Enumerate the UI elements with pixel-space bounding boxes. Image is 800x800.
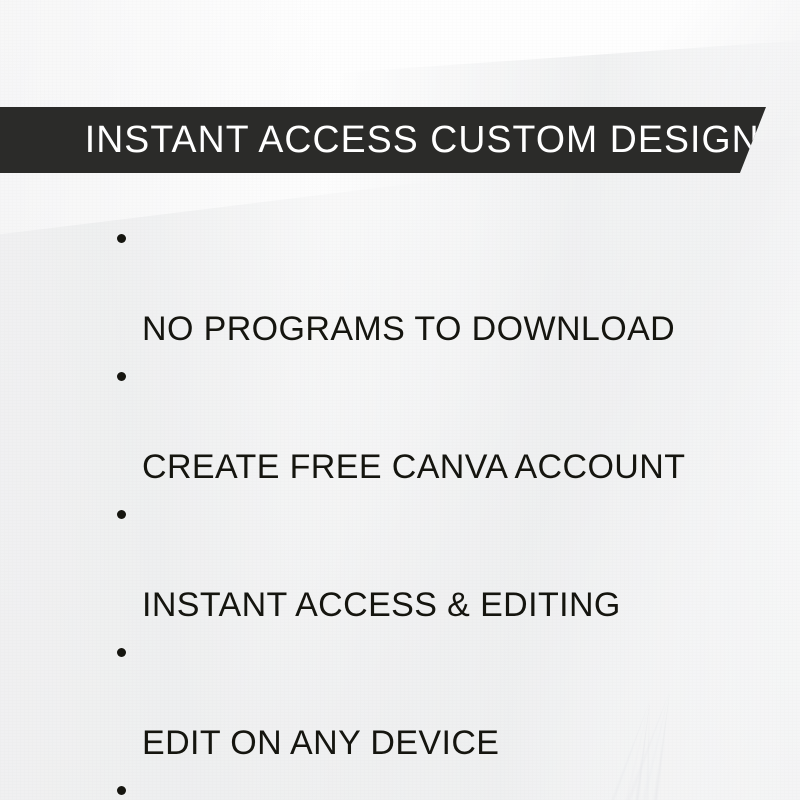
- list-item: CREATE FREE CANVA ACCOUNT: [114, 352, 734, 490]
- list-item: NO PROGRAMS TO DOWNLOAD: [114, 214, 734, 352]
- list-item: INSTANT ACCESS & EDITING: [114, 490, 734, 628]
- feature-list: NO PROGRAMS TO DOWNLOAD CREATE FREE CANV…: [114, 214, 734, 800]
- list-item-label: CREATE FREE CANVA ACCOUNT: [142, 448, 685, 486]
- list-item-label: INSTANT ACCESS & EDITING: [142, 586, 621, 624]
- bullet-dot-icon: [117, 234, 126, 243]
- banner-title: INSTANT ACCESS CUSTOM DESIGNS: [0, 121, 786, 159]
- bullet-dot-icon: [117, 648, 126, 657]
- list-item: EASY TO USE: [114, 766, 734, 800]
- promo-graphic-canvas: INSTANT ACCESS CUSTOM DESIGNS NO PROGRAM…: [0, 0, 800, 800]
- header-banner: INSTANT ACCESS CUSTOM DESIGNS: [0, 107, 766, 173]
- list-item: EDIT ON ANY DEVICE: [114, 628, 734, 766]
- list-item-label: EDIT ON ANY DEVICE: [142, 724, 499, 762]
- bullet-dot-icon: [117, 786, 126, 795]
- bullet-dot-icon: [117, 510, 126, 519]
- list-item-label: NO PROGRAMS TO DOWNLOAD: [142, 310, 675, 348]
- bullet-dot-icon: [117, 372, 126, 381]
